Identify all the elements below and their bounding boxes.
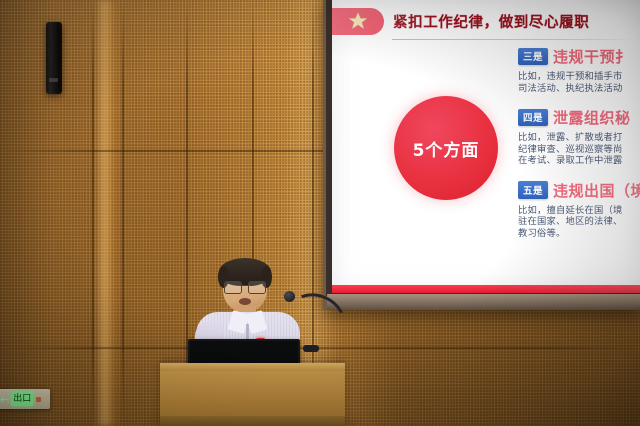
slide-block-5-heading: 违规出国（境 bbox=[553, 180, 640, 201]
projection-screen: 紧扣工作纪律，做到尽心履职 5个方面 三是 违规干预扌 比如，违规干预和插手市 … bbox=[323, 0, 640, 310]
slide-block-5-body: 比如，擅自延长在国（境 驻在国家、地区的法律、 教习俗等。 bbox=[518, 205, 640, 240]
presentation-slide: 紧扣工作纪律，做到尽心履职 5个方面 三是 违规干预扌 比如，违规干预和插手市 … bbox=[332, 0, 640, 293]
presenter-mouth bbox=[239, 298, 251, 305]
slide-block-5-line-2: 驻在国家、地区的法律、 bbox=[518, 216, 640, 228]
microphone-base bbox=[303, 345, 319, 352]
highlight-circle: 5个方面 bbox=[394, 96, 498, 200]
slide-block-5-line-1: 比如，擅自延长在国（境 bbox=[518, 205, 640, 217]
podium-top-surface bbox=[160, 363, 345, 371]
slide-block-5-chip: 五是 bbox=[518, 181, 548, 199]
eyeglasses-icon bbox=[224, 281, 266, 292]
wall-seam bbox=[92, 0, 94, 426]
star-icon bbox=[332, 8, 384, 35]
slide-block-3-line-1: 比如，违规干预和插手市 bbox=[518, 71, 640, 83]
slide-block-4-line-2: 纪律审查、巡视巡察等尚 bbox=[518, 144, 640, 156]
screen-bottom-frame bbox=[327, 294, 640, 310]
highlight-circle-label: 5个方面 bbox=[413, 136, 480, 161]
podium-front-edge bbox=[160, 416, 345, 426]
wall-loudspeaker-icon bbox=[46, 22, 62, 94]
slide-block-3-body: 比如，违规干预和插手市 司法活动、执纪执法活动 bbox=[518, 71, 640, 94]
slide-block-4: 四是 泄露组织秘 比如，泄露、扩散或者打 纪律审查、巡视巡察等尚 在考试、录取工… bbox=[518, 107, 640, 167]
wall-light-glow bbox=[96, 0, 122, 426]
slide-block-3-heading: 违规干预扌 bbox=[553, 46, 631, 67]
slide-bottom-band bbox=[332, 285, 640, 293]
slide-block-4-line-3: 在考试、录取工作中泄露 bbox=[518, 155, 640, 167]
wall-seam bbox=[122, 0, 124, 426]
slide-block-3-line-2: 司法活动、执纪执法活动 bbox=[518, 83, 640, 95]
slide-block-5-line-3: 教习俗等。 bbox=[518, 228, 640, 240]
exit-arrow-icon: ← bbox=[0, 394, 9, 405]
slide-block-4-body: 比如，泄露、扩散或者打 纪律审查、巡视巡察等尚 在考试、录取工作中泄露 bbox=[518, 132, 640, 167]
slide-block-4-header: 四是 泄露组织秘 bbox=[518, 107, 640, 128]
slide-title-divider bbox=[392, 39, 637, 40]
speaker-brand-mark bbox=[49, 78, 58, 82]
conference-hall-photo: ← 出口 紧扣工作纪律，做到尽心履职 5个方面 bbox=[0, 0, 640, 426]
slide-block-5-header: 五是 违规出国（境 bbox=[518, 180, 640, 201]
exit-sign-label: 出口 bbox=[11, 392, 33, 406]
eyeglass-lens-right bbox=[248, 281, 266, 294]
slide-block-3: 三是 违规干预扌 比如，违规干预和插手市 司法活动、执纪执法活动 bbox=[518, 46, 640, 94]
slide-title-row: 紧扣工作纪律，做到尽心履职 bbox=[332, 6, 589, 36]
slide-block-4-chip: 四是 bbox=[518, 109, 548, 127]
exit-sign-indicator-icon bbox=[36, 397, 41, 402]
slide-block-4-line-1: 比如，泄露、扩散或者打 bbox=[518, 132, 640, 144]
slide-content-blocks: 三是 违规干预扌 比如，违规干预和插手市 司法活动、执纪执法活动 四是 泄露组织… bbox=[518, 46, 640, 252]
slide-block-3-header: 三是 违规干预扌 bbox=[518, 46, 640, 67]
microphone-icon bbox=[284, 291, 295, 302]
slide-block-3-chip: 三是 bbox=[518, 48, 548, 66]
slide-block-5: 五是 违规出国（境 比如，擅自延长在国（境 驻在国家、地区的法律、 教习俗等。 bbox=[518, 180, 640, 240]
slide-title: 紧扣工作纪律，做到尽心履职 bbox=[393, 11, 589, 32]
podium bbox=[160, 363, 345, 426]
eyeglass-lens-left bbox=[224, 281, 242, 294]
slide-block-4-heading: 泄露组织秘 bbox=[553, 107, 631, 128]
exit-sign: ← 出口 bbox=[0, 389, 50, 409]
